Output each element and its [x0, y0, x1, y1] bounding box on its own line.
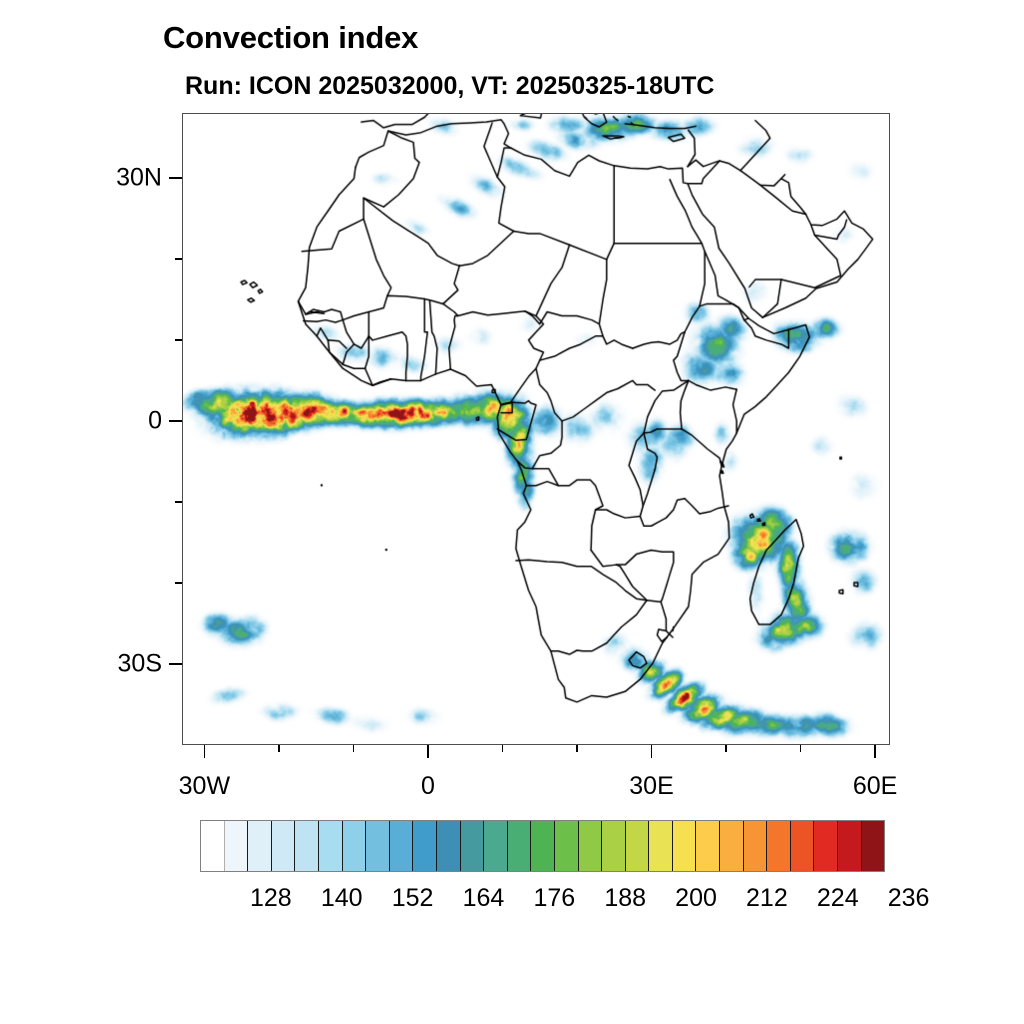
x-tick-minor	[576, 745, 578, 752]
x-tick-minor	[278, 745, 280, 752]
colorbar-cell	[579, 821, 603, 871]
colorbar-tick-label: 164	[463, 884, 505, 913]
colorbar-cell	[461, 821, 485, 871]
colorbar-cell	[744, 821, 768, 871]
colorbar-cell	[720, 821, 744, 871]
colorbar-cell	[272, 821, 296, 871]
y-tick-major	[169, 663, 182, 665]
x-tick-major	[204, 745, 206, 758]
colorbar-tick-label: 212	[746, 884, 788, 913]
colorbar-cell	[225, 821, 249, 871]
x-axis-label: 30W	[179, 772, 230, 801]
colorbar	[200, 820, 885, 872]
colorbar-tick-label: 224	[817, 884, 859, 913]
colorbar-tick-label: 200	[675, 884, 717, 913]
y-tick-minor	[175, 339, 182, 341]
x-axis-label: 0	[421, 772, 435, 801]
y-tick-minor	[175, 582, 182, 584]
y-tick-minor	[175, 501, 182, 503]
map-plot-area	[182, 113, 890, 745]
colorbar-tick-label: 236	[888, 884, 930, 913]
colorbar-cell	[555, 821, 579, 871]
convection-index-map	[183, 114, 889, 744]
colorbar-cell	[767, 821, 791, 871]
run-valid-time-subtitle: Run: ICON 2025032000, VT: 20250325-18UTC	[185, 72, 714, 101]
colorbar-cell	[649, 821, 673, 871]
colorbar-cell	[390, 821, 414, 871]
colorbar-cell	[696, 821, 720, 871]
y-axis-label: 0	[148, 406, 162, 435]
y-axis-label: 30N	[116, 163, 162, 192]
colorbar-cell	[366, 821, 390, 871]
colorbar-cell	[838, 821, 862, 871]
colorbar-tick-label: 176	[533, 884, 575, 913]
colorbar-cell	[814, 821, 838, 871]
x-tick-major	[874, 745, 876, 758]
colorbar-cell	[437, 821, 461, 871]
page-title: Convection index	[163, 20, 418, 56]
colorbar-cell	[862, 821, 885, 871]
colorbar-cell	[531, 821, 555, 871]
x-tick-major	[651, 745, 653, 758]
colorbar-cell	[295, 821, 319, 871]
colorbar-cell	[413, 821, 437, 871]
colorbar-cell	[484, 821, 508, 871]
y-tick-major	[169, 420, 182, 422]
colorbar-cell	[626, 821, 650, 871]
colorbar-tick-label: 188	[604, 884, 646, 913]
colorbar-cell	[602, 821, 626, 871]
x-tick-minor	[353, 745, 355, 752]
colorbar-cell	[201, 821, 225, 871]
x-tick-minor	[502, 745, 504, 752]
x-tick-major	[427, 745, 429, 758]
colorbar-tick-label: 140	[321, 884, 363, 913]
y-tick-major	[169, 177, 182, 179]
y-axis-label: 30S	[118, 649, 162, 678]
colorbar-cell	[343, 821, 367, 871]
colorbar-cell	[791, 821, 815, 871]
convection-index-figure: Convection index Run: ICON 2025032000, V…	[0, 0, 1024, 1024]
y-tick-minor	[175, 258, 182, 260]
x-axis-label: 60E	[853, 772, 897, 801]
colorbar-tick-label: 152	[392, 884, 434, 913]
x-tick-minor	[725, 745, 727, 752]
colorbar-tick-label: 128	[250, 884, 292, 913]
colorbar-cell	[248, 821, 272, 871]
colorbar-cell	[508, 821, 532, 871]
colorbar-cell	[319, 821, 343, 871]
x-tick-minor	[800, 745, 802, 752]
colorbar-cell	[673, 821, 697, 871]
x-axis-label: 30E	[629, 772, 673, 801]
